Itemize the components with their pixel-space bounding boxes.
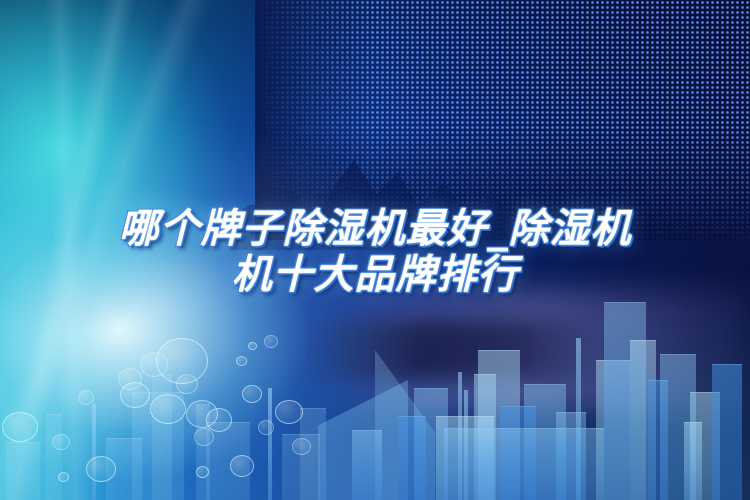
building	[152, 374, 172, 500]
bubble	[176, 374, 198, 394]
bubble	[248, 342, 257, 350]
bubble	[206, 408, 232, 432]
bubble	[150, 394, 186, 424]
bubble	[275, 400, 303, 424]
bubble	[86, 456, 116, 482]
bubble	[2, 412, 38, 442]
bubble	[120, 382, 150, 408]
building	[352, 430, 382, 500]
bubble	[52, 434, 70, 450]
bubble	[292, 438, 311, 455]
building-spire	[92, 404, 96, 500]
bubble	[58, 472, 69, 482]
promo-banner: 哪个牌子除湿机最好_除湿机 机十大品牌排行	[0, 0, 750, 500]
bubble	[140, 352, 168, 377]
page-title: 哪个牌子除湿机最好_除湿机 机十大品牌排行	[0, 206, 750, 298]
bubble	[196, 466, 209, 478]
building	[556, 412, 586, 500]
headline-line-1: 哪个牌子除湿机最好_除湿机	[0, 206, 750, 252]
headline-line-2: 机十大品牌排行	[0, 252, 750, 298]
bubble	[236, 356, 247, 366]
bubble	[230, 455, 254, 477]
bubble	[264, 335, 278, 348]
building	[712, 364, 742, 500]
building	[684, 422, 702, 500]
bubble	[258, 420, 274, 435]
building-spire	[268, 388, 272, 500]
bubble	[78, 390, 94, 405]
building	[46, 414, 62, 500]
bubble	[194, 428, 214, 446]
bubble	[242, 385, 262, 403]
building	[6, 442, 40, 500]
